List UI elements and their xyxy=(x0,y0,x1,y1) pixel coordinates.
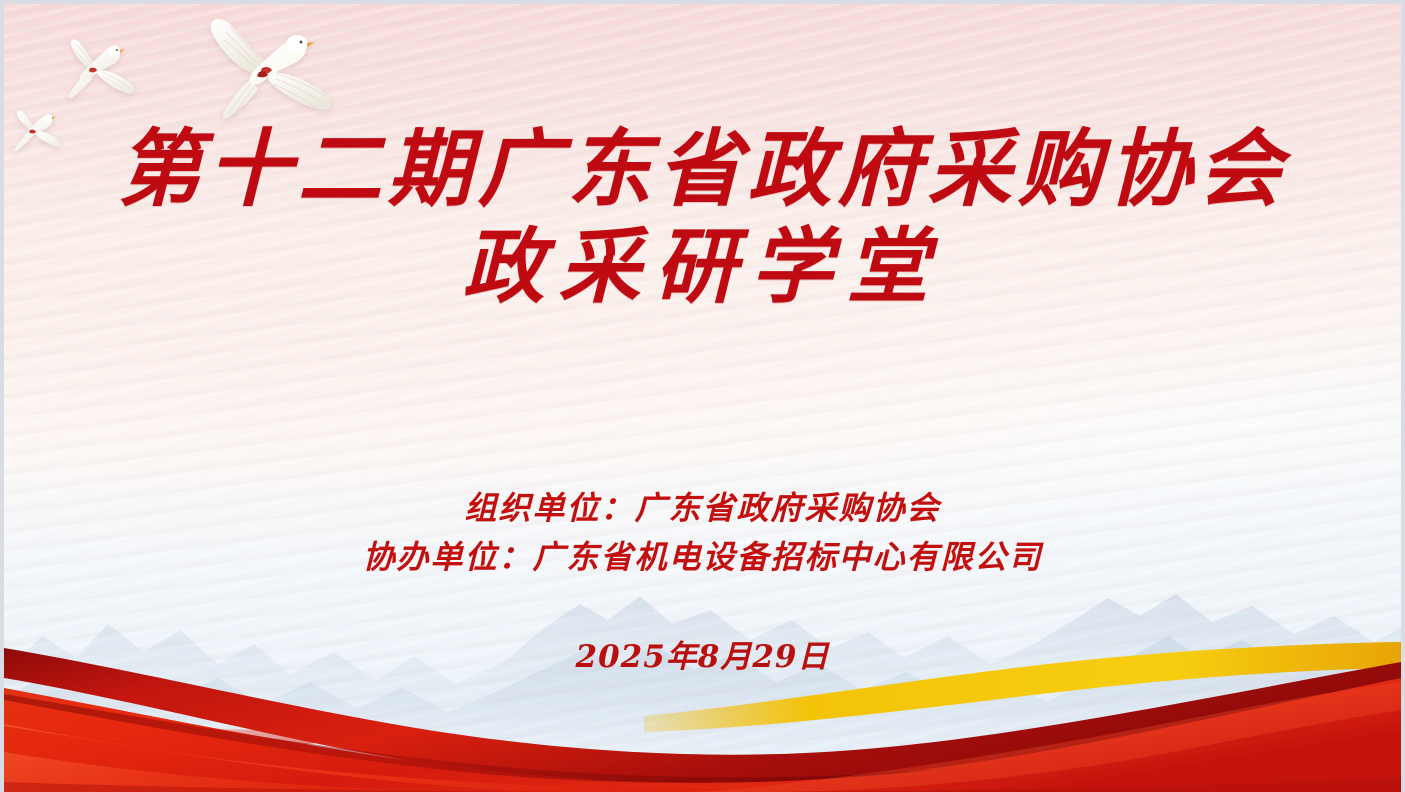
dove-icon-medium xyxy=(62,38,136,100)
co-organizer-line: 协办单位：广东省机电设备招标中心有限公司 xyxy=(0,533,1405,582)
organizer-block: 组织单位：广东省政府采购协会 协办单位：广东省机电设备招标中心有限公司 xyxy=(0,484,1405,581)
title-slide: 第十二期广东省政府采购协会 政采研学堂 组织单位：广东省政府采购协会 协办单位：… xyxy=(0,0,1405,792)
dove-icon-large xyxy=(196,16,336,120)
red-ribbon-wave-decoration xyxy=(4,592,1401,792)
page-title-line-2: 政采研学堂 xyxy=(0,222,1405,314)
page-title-line-1: 第十二期广东省政府采购协会 xyxy=(0,122,1405,216)
organizer-line: 组织单位：广东省政府采购协会 xyxy=(0,484,1405,533)
title-block: 第十二期广东省政府采购协会 政采研学堂 xyxy=(0,122,1405,314)
